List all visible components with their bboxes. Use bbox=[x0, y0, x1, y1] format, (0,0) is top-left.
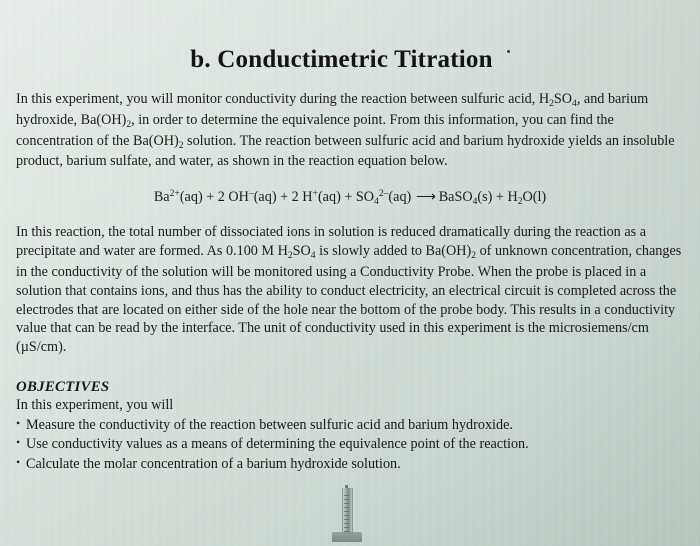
paragraph-reaction-detail: In this reaction, the total number of di… bbox=[16, 223, 684, 357]
title-dot-artifact bbox=[507, 50, 510, 53]
reaction-equation: Ba2+(aq) + 2 OH–(aq) + 2 H+(aq) + SO42–(… bbox=[16, 188, 684, 207]
objectives-intro: In this experiment, you will bbox=[16, 397, 684, 414]
list-item: Measure the conductivity of the reaction… bbox=[16, 416, 684, 435]
paragraph-intro: In this experiment, you will monitor con… bbox=[16, 90, 684, 171]
document-page: b. Conductimetric Titration In this expe… bbox=[0, 0, 700, 546]
document-content: b. Conductimetric Titration In this expe… bbox=[0, 46, 700, 474]
apparatus-base bbox=[332, 532, 362, 542]
page-title-text: b. Conductimetric Titration bbox=[190, 46, 492, 73]
apparatus-photo-artifact bbox=[332, 488, 366, 546]
list-item: Use conductivity values as a means of de… bbox=[16, 435, 684, 454]
objectives-list: Measure the conductivity of the reaction… bbox=[16, 416, 684, 474]
apparatus-scale-markings bbox=[344, 492, 349, 532]
objectives-heading: OBJECTIVES bbox=[16, 379, 684, 396]
list-item: Calculate the molar concentration of a b… bbox=[16, 455, 684, 474]
page-title: b. Conductimetric Titration bbox=[16, 46, 684, 74]
